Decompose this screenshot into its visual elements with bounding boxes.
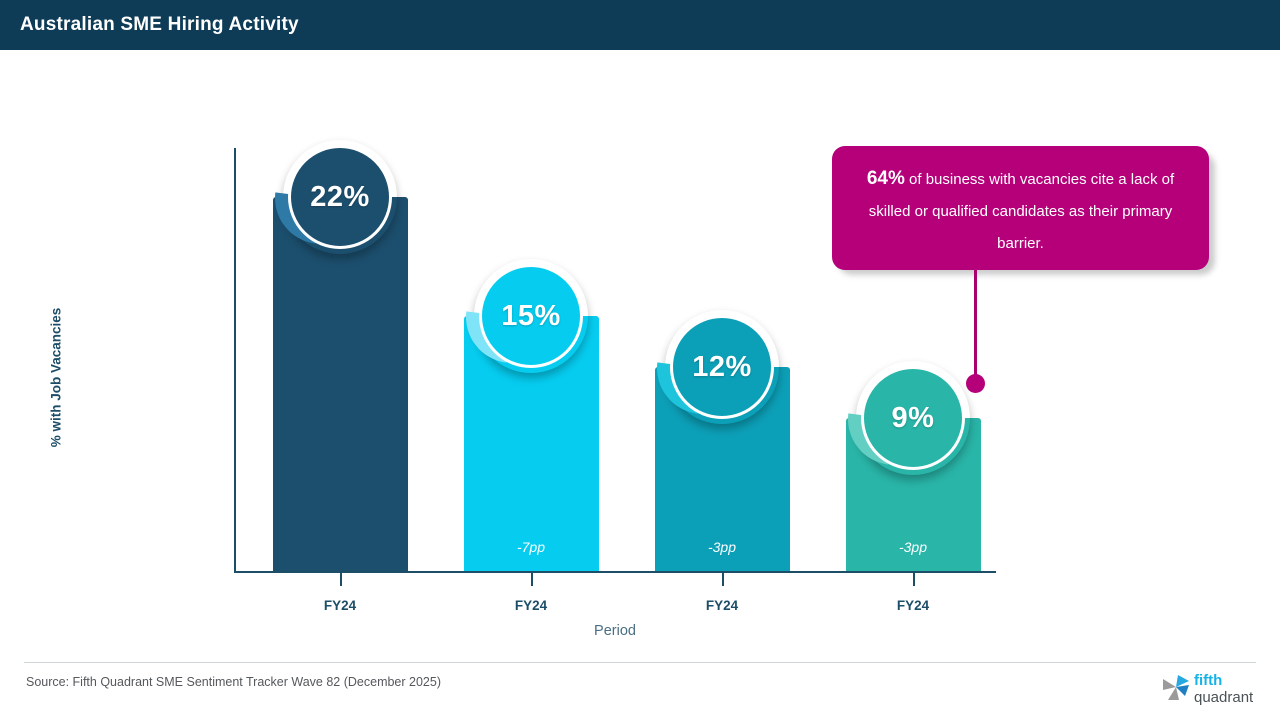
bar-delta-label-2: -3pp bbox=[655, 539, 790, 555]
x-tick-0 bbox=[340, 573, 342, 586]
logo-word-fifth: fifth bbox=[1194, 672, 1253, 689]
x-tick-2 bbox=[722, 573, 724, 586]
x-tick-1 bbox=[531, 573, 533, 586]
callout-stat: 64% bbox=[867, 168, 905, 189]
x-category-label-1: FY24 bbox=[466, 598, 596, 613]
value-badge-3[interactable]: 9% bbox=[856, 361, 970, 475]
badge-value-1: 15% bbox=[474, 259, 588, 373]
value-badge-0[interactable]: 22% bbox=[283, 140, 397, 254]
bar-delta-label-3: -3pp bbox=[846, 539, 981, 555]
fifth-quadrant-logo: fifth quadrant bbox=[1160, 672, 1266, 710]
callout-box: 64% of business with vacancies cite a la… bbox=[832, 146, 1209, 270]
x-tick-3 bbox=[913, 573, 915, 586]
x-axis-line bbox=[234, 571, 996, 573]
chart-plot-area: % with Job Vacancies Period 22%-7pp15%-3… bbox=[0, 50, 1280, 660]
callout-connector-line bbox=[974, 270, 977, 380]
logo-word-quadrant: quadrant bbox=[1194, 689, 1253, 706]
header-bar: Australian SME Hiring Activity bbox=[0, 0, 1280, 50]
x-category-label-2: FY24 bbox=[657, 598, 787, 613]
pinwheel-icon bbox=[1160, 672, 1192, 704]
bar-delta-label-1: -7pp bbox=[464, 539, 599, 555]
y-axis-label: % with Job Vacancies bbox=[49, 288, 64, 468]
source-note: Source: Fifth Quadrant SME Sentiment Tra… bbox=[26, 675, 441, 689]
callout-anchor-dot bbox=[966, 374, 985, 393]
badge-value-2: 12% bbox=[665, 310, 779, 424]
y-axis-line bbox=[234, 148, 236, 573]
callout-text: of business with vacancies cite a lack o… bbox=[869, 171, 1174, 252]
badge-value-0: 22% bbox=[283, 140, 397, 254]
badge-value-3: 9% bbox=[856, 361, 970, 475]
x-category-label-0: FY24 bbox=[275, 598, 405, 613]
logo-wordmark: fifth quadrant bbox=[1194, 672, 1253, 706]
x-axis-label: Period bbox=[234, 623, 996, 639]
value-badge-2[interactable]: 12% bbox=[665, 310, 779, 424]
value-badge-1[interactable]: 15% bbox=[474, 259, 588, 373]
page-title: Australian SME Hiring Activity bbox=[20, 0, 299, 50]
x-category-label-3: FY24 bbox=[848, 598, 978, 613]
footer-divider bbox=[24, 662, 1256, 663]
